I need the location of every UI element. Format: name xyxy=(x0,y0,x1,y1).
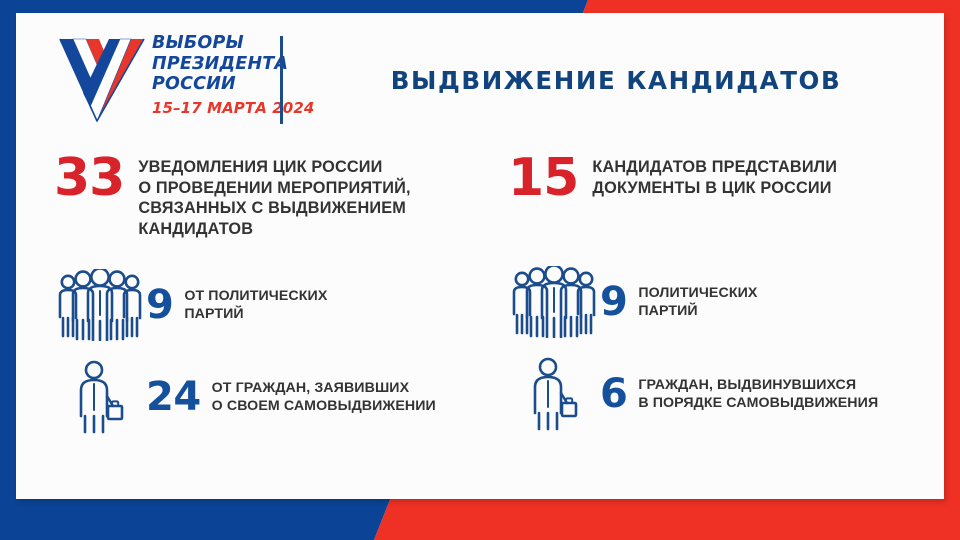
logo-line-3: РОССИИ xyxy=(152,76,288,94)
logo-line-2: ПРЕЗИДЕНТА xyxy=(152,56,288,74)
stat-label-line: ПОЛИТИЧЕСКИХ xyxy=(638,284,757,302)
stat-number: 9 xyxy=(146,285,173,325)
stat-row-self-nominated: 24 ОТ ГРАЖДАН, ЗАЯВИВШИХ О СВОЕМ САМОВЫД… xyxy=(54,355,494,439)
column-right: 15 КАНДИДАТОВ ПРЕДСТАВИЛИ ДОКУМЕНТЫ В ЦИ… xyxy=(508,153,948,436)
headline-stat-number: 33 xyxy=(54,153,124,204)
infographic-slide: ВЫБОРЫ ПРЕЗИДЕНТА РОССИИ 15–17 МАРТА 202… xyxy=(0,0,960,540)
icon-container xyxy=(54,360,146,434)
logo-election-date: 15–17 МАРТА 2024 xyxy=(152,99,288,117)
stat-label: ПОЛИТИЧЕСКИХ ПАРТИЙ xyxy=(638,284,757,321)
stat-label-line: ПАРТИЙ xyxy=(638,302,757,320)
person-with-briefcase-icon xyxy=(526,357,582,431)
headline-stat: 33 УВЕДОМЛЕНИЯ ЦИК РОССИИ О ПРОВЕДЕНИИ М… xyxy=(54,153,494,239)
icon-container xyxy=(508,357,600,431)
headline-stat-label: УВЕДОМЛЕНИЯ ЦИК РОССИИ О ПРОВЕДЕНИИ МЕРО… xyxy=(138,157,410,239)
headline-stat: 15 КАНДИДАТОВ ПРЕДСТАВИЛИ ДОКУМЕНТЫ В ЦИ… xyxy=(508,153,948,204)
stat-number: 9 xyxy=(600,282,627,322)
stat-row-self-nominated: 6 ГРАЖДАН, ВЫДВИНУВШИХСЯ В ПОРЯДКЕ САМОВ… xyxy=(508,352,948,436)
logo-line-1: ВЫБОРЫ xyxy=(152,35,288,53)
stat-label-line: О СВОЕМ САМОВЫДВИЖЕНИИ xyxy=(212,397,436,415)
group-of-people-icon xyxy=(511,266,597,338)
stat-number: 24 xyxy=(146,377,201,417)
column-left: 33 УВЕДОМЛЕНИЯ ЦИК РОССИИ О ПРОВЕДЕНИИ М… xyxy=(54,153,494,439)
headline-line: КАНДИДАТОВ xyxy=(138,219,410,240)
logo-wordmark: ВЫБОРЫ ПРЕЗИДЕНТА РОССИИ 15–17 МАРТА 202… xyxy=(152,35,288,117)
stat-row-parties: 9 ПОЛИТИЧЕСКИХ ПАРТИЙ xyxy=(508,260,948,344)
headline-line: О ПРОВЕДЕНИИ МЕРОПРИЯТИЙ, xyxy=(138,178,410,199)
header: ВЫБОРЫ ПРЕЗИДЕНТА РОССИИ 15–17 МАРТА 202… xyxy=(16,13,944,148)
stat-label-line: ОТ ГРАЖДАН, ЗАЯВИВШИХ xyxy=(212,379,436,397)
stat-number: 6 xyxy=(600,374,627,414)
content-card: ВЫБОРЫ ПРЕЗИДЕНТА РОССИИ 15–17 МАРТА 202… xyxy=(16,13,944,499)
person-with-briefcase-icon xyxy=(72,360,128,434)
page-title: ВЫДВИЖЕНИЕ КАНДИДАТОВ xyxy=(316,66,916,95)
headline-line: СВЯЗАННЫХ С ВЫДВИЖЕНИЕМ xyxy=(138,198,410,219)
header-divider xyxy=(280,36,283,124)
stat-label-line: В ПОРЯДКЕ САМОВЫДВИЖЕНИЯ xyxy=(638,394,878,412)
stat-label: ОТ ГРАЖДАН, ЗАЯВИВШИХ О СВОЕМ САМОВЫДВИЖ… xyxy=(212,379,436,416)
stat-row-parties: 9 ОТ ПОЛИТИЧЕСКИХ ПАРТИЙ xyxy=(54,263,494,347)
icon-container xyxy=(54,269,146,341)
stat-label-line: ГРАЖДАН, ВЫДВИНУВШИХСЯ xyxy=(638,376,878,394)
headline-line: ДОКУМЕНТЫ В ЦИК РОССИИ xyxy=(592,178,837,199)
group-of-people-icon xyxy=(57,269,143,341)
election-logo: ВЫБОРЫ ПРЕЗИДЕНТА РОССИИ 15–17 МАРТА 202… xyxy=(56,31,288,131)
headline-line: УВЕДОМЛЕНИЯ ЦИК РОССИИ xyxy=(138,157,410,178)
icon-container xyxy=(508,266,600,338)
headline-line: КАНДИДАТОВ ПРЕДСТАВИЛИ xyxy=(592,157,837,178)
headline-stat-label: КАНДИДАТОВ ПРЕДСТАВИЛИ ДОКУМЕНТЫ В ЦИК Р… xyxy=(592,157,837,198)
stat-label-line: ОТ ПОЛИТИЧЕСКИХ xyxy=(184,287,327,305)
stat-label: ОТ ПОЛИТИЧЕСКИХ ПАРТИЙ xyxy=(184,287,327,324)
headline-stat-number: 15 xyxy=(508,153,578,204)
stat-label: ГРАЖДАН, ВЫДВИНУВШИХСЯ В ПОРЯДКЕ САМОВЫД… xyxy=(638,376,878,413)
stat-label-line: ПАРТИЙ xyxy=(184,305,327,323)
russia-v-tricolor-logo-icon xyxy=(56,33,148,125)
